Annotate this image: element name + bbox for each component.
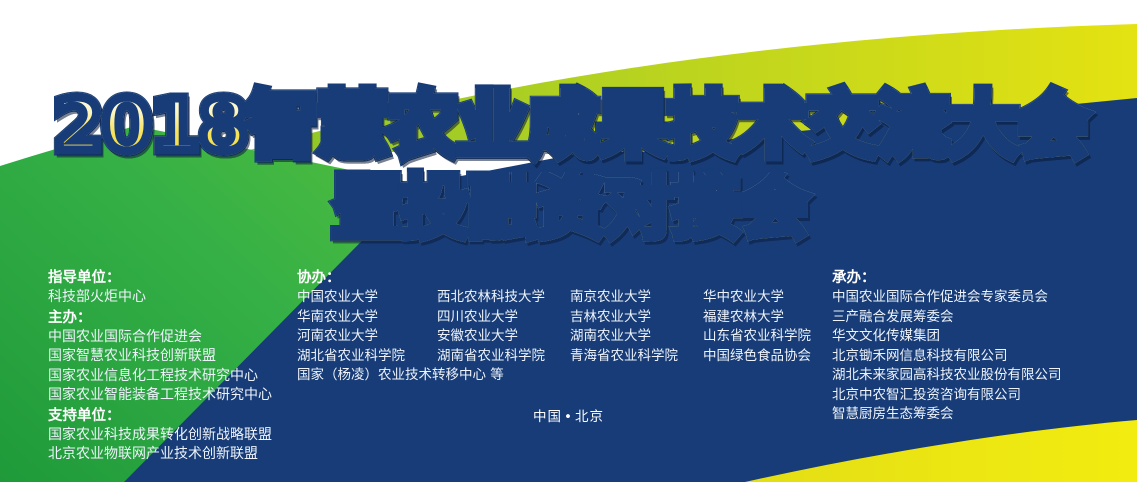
coorganizer-item: 四川农业大学 (437, 308, 570, 328)
coorganizer-item: 山东省农业科学院 (703, 327, 811, 347)
credits-block: 指导单位： 科技部火炬中心 主办： 中国农业国际合作促进会 国家智慧农业科技创新… (0, 0, 1137, 482)
coorganizer-item: 湖南省农业科学院 (437, 347, 570, 367)
credits-column-coorganizer: 协办： 中国农业大学 西北农林科技大学 南京农业大学 华中农业大学 华南农业大学… (297, 268, 811, 386)
organizer-item: 湖北未来家园高科技农业股份有限公司 (832, 366, 1062, 386)
host-item: 国家农业信息化工程技术研究中心 (48, 367, 272, 387)
coorganizer-item: 中国农业大学 (297, 288, 437, 308)
location-country: 中国 (533, 409, 562, 425)
host-item: 国家农业智能装备工程技术研究中心 (48, 386, 272, 406)
organizer-item: 三产融合发展筹委会 (832, 308, 1062, 328)
support-item: 国家农业科技成果转化创新战略联盟 (48, 426, 272, 446)
organizer-item: 中国农业国际合作促进会专家委员会 (832, 288, 1062, 308)
organizer-item: 华文文化传媒集团 (832, 327, 1062, 347)
coorganizer-item: 安徽农业大学 (437, 327, 570, 347)
host-heading: 主办： (48, 308, 272, 328)
coorganizer-item: 青海省农业科学院 (570, 347, 703, 367)
coorganizer-item: 吉林农业大学 (570, 308, 703, 328)
coorganizer-last-line: 国家（杨凌）农业技术转移中心 等 (297, 366, 811, 386)
conference-banner: 2018智慧农业成果技术交流大会 2018智慧农业成果技术交流大会 暨投融资对接… (0, 0, 1137, 482)
host-item: 国家智慧农业科技创新联盟 (48, 347, 272, 367)
coorganizer-heading: 协办： (297, 268, 811, 288)
guidance-item: 科技部火炬中心 (48, 288, 272, 308)
coorganizer-item: 河南农业大学 (297, 327, 437, 347)
coorganizer-item: 中国绿色食品协会 (703, 347, 811, 367)
location-line: 中国•北京 (0, 405, 1137, 425)
support-item: 北京农业物联网产业技术创新联盟 (48, 445, 272, 465)
organizer-item: 北京中农智汇投资咨询有限公司 (832, 386, 1062, 406)
guidance-heading: 指导单位： (48, 268, 272, 288)
coorganizer-item: 福建农林大学 (703, 308, 811, 328)
coorganizer-item: 南京农业大学 (570, 288, 703, 308)
credits-column-left: 指导单位： 科技部火炬中心 主办： 中国农业国际合作促进会 国家智慧农业科技创新… (48, 268, 272, 465)
location-city: 北京 (575, 409, 604, 425)
coorganizer-item: 华南农业大学 (297, 308, 437, 328)
coorganizer-item: 华中农业大学 (703, 288, 811, 308)
coorganizer-item: 湖南农业大学 (570, 327, 703, 347)
coorganizer-grid: 中国农业大学 西北农林科技大学 南京农业大学 华中农业大学 华南农业大学 四川农… (297, 288, 811, 366)
organizer-item: 北京锄禾网信息科技有限公司 (832, 347, 1062, 367)
coorganizer-item: 湖北省农业科学院 (297, 347, 437, 367)
location-separator: • (562, 409, 575, 425)
organizer-heading: 承办： (832, 268, 1062, 288)
coorganizer-item: 西北农林科技大学 (437, 288, 570, 308)
host-item: 中国农业国际合作促进会 (48, 328, 272, 348)
credits-column-organizer: 承办： 中国农业国际合作促进会专家委员会 三产融合发展筹委会 华文文化传媒集团 … (832, 268, 1062, 425)
